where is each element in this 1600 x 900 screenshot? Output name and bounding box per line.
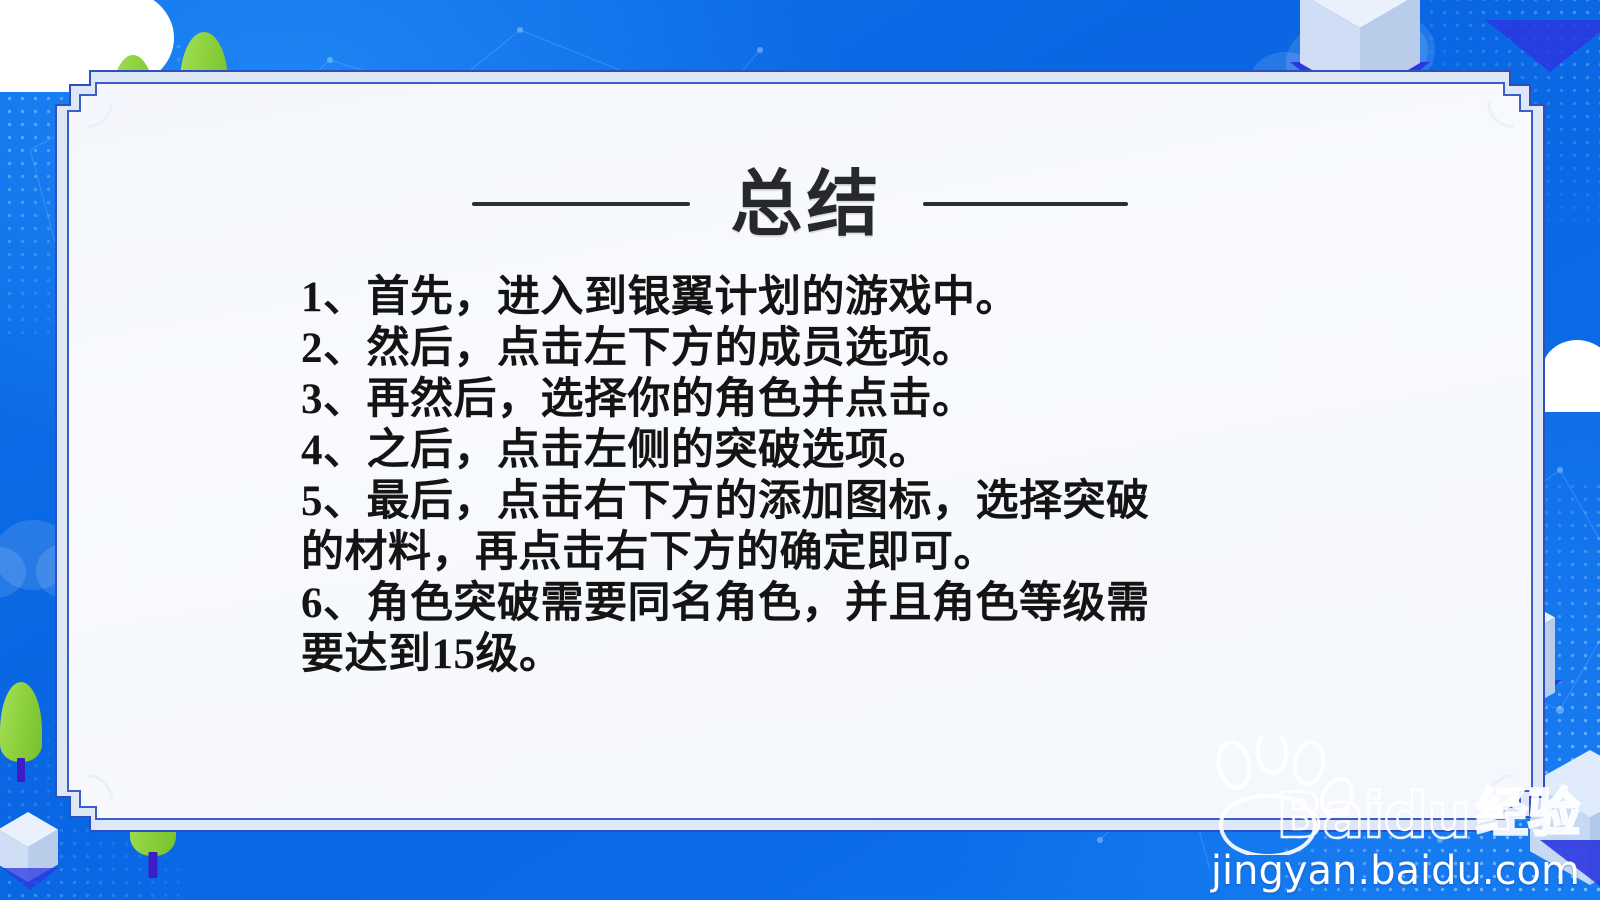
title-row: 总结	[69, 168, 1531, 240]
slide-stage: 总结 1、首先，进入到银翼计划的游戏中。 2、然后，点击左下方的成员选项。 3、…	[0, 0, 1600, 900]
summary-step-line: 3、再然后，选择你的角色并点击。	[301, 374, 1311, 425]
summary-step-line: 5、最后，点击右下方的添加图标，选择突破	[301, 476, 1311, 527]
watermark-url: jingyan.baidu.com	[1211, 848, 1580, 894]
summary-step-line-cont: 要达到15级。	[301, 629, 1311, 680]
summary-step-line-cont: 的材料，再点击右下方的确定即可。	[301, 527, 1311, 578]
content-panel: 总结 1、首先，进入到银翼计划的游戏中。 2、然后，点击左下方的成员选项。 3、…	[55, 70, 1545, 832]
title-rule-right	[923, 202, 1128, 206]
page-title: 总结	[730, 168, 882, 240]
title-rule-left	[472, 202, 690, 206]
summary-step-line: 2、然后，点击左下方的成员选项。	[301, 323, 1311, 374]
panel-content: 总结 1、首先，进入到银翼计划的游戏中。 2、然后，点击左下方的成员选项。 3、…	[69, 84, 1531, 818]
paw-icon	[1204, 735, 1354, 860]
summary-step-line: 6、角色突破需要同名角色，并且角色等级需	[301, 578, 1311, 629]
summary-steps-list: 1、首先，进入到银翼计划的游戏中。 2、然后，点击左下方的成员选项。 3、再然后…	[301, 272, 1311, 680]
summary-step-line: 4、之后，点击左侧的突破选项。	[301, 425, 1311, 476]
tree-icon	[0, 682, 42, 782]
summary-step-line: 1、首先，进入到银翼计划的游戏中。	[301, 272, 1311, 323]
